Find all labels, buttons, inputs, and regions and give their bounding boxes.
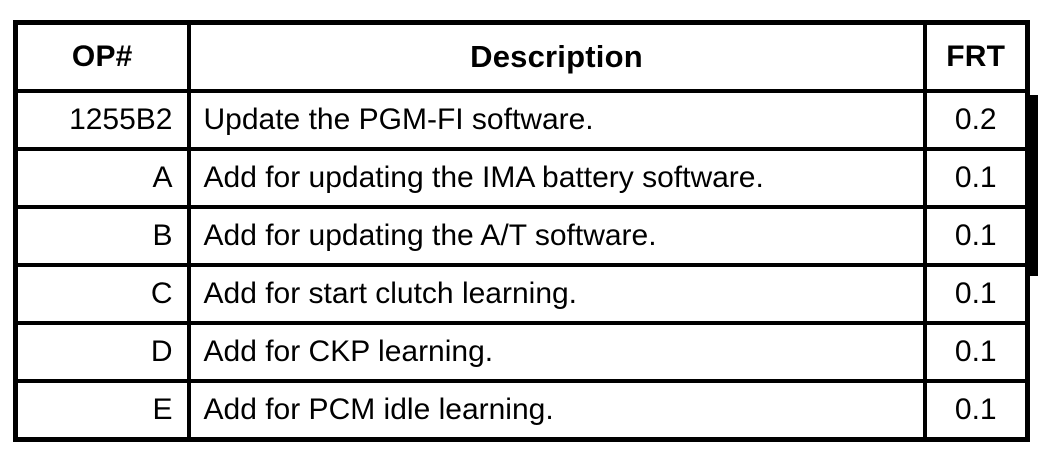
cell-description: Add for start clutch learning. [189,265,925,323]
cell-op: A [16,149,189,207]
table-row: B Add for updating the A/T software. 0.1 [16,207,1028,265]
table-row: C Add for start clutch learning. 0.1 [16,265,1028,323]
table-row: 1255B2 Update the PGM-FI software. 0.2 [16,91,1028,149]
cell-op: B [16,207,189,265]
cell-description: Add for updating the A/T software. [189,207,925,265]
cell-op: D [16,323,189,381]
column-header-op: OP# [16,23,189,92]
flat-rate-table: OP# Description FRT 1255B2 Update the PG… [13,20,1030,442]
cell-op: E [16,381,189,439]
cell-frt: 0.2 [925,91,1028,149]
column-header-frt: FRT [925,23,1028,92]
table-row: E Add for PCM idle learning. 0.1 [16,381,1028,439]
cell-frt: 0.1 [925,149,1028,207]
cell-op: 1255B2 [16,91,189,149]
column-header-description: Description [189,23,925,92]
table-row: D Add for CKP learning. 0.1 [16,323,1028,381]
page-root: OP# Description FRT 1255B2 Update the PG… [0,0,1047,461]
cell-frt: 0.1 [925,207,1028,265]
table-header: OP# Description FRT [16,23,1028,92]
cell-frt: 0.1 [925,265,1028,323]
cell-description: Update the PGM-FI software. [189,91,925,149]
cell-frt: 0.1 [925,381,1028,439]
cell-description: Add for updating the IMA battery softwar… [189,149,925,207]
table-header-row: OP# Description FRT [16,23,1028,92]
table-row: A Add for updating the IMA battery softw… [16,149,1028,207]
table-body: 1255B2 Update the PGM-FI software. 0.2 A… [16,91,1028,439]
cell-description: Add for PCM idle learning. [189,381,925,439]
cell-frt: 0.1 [925,323,1028,381]
revision-change-bar [1026,95,1038,276]
cell-description: Add for CKP learning. [189,323,925,381]
cell-op: C [16,265,189,323]
